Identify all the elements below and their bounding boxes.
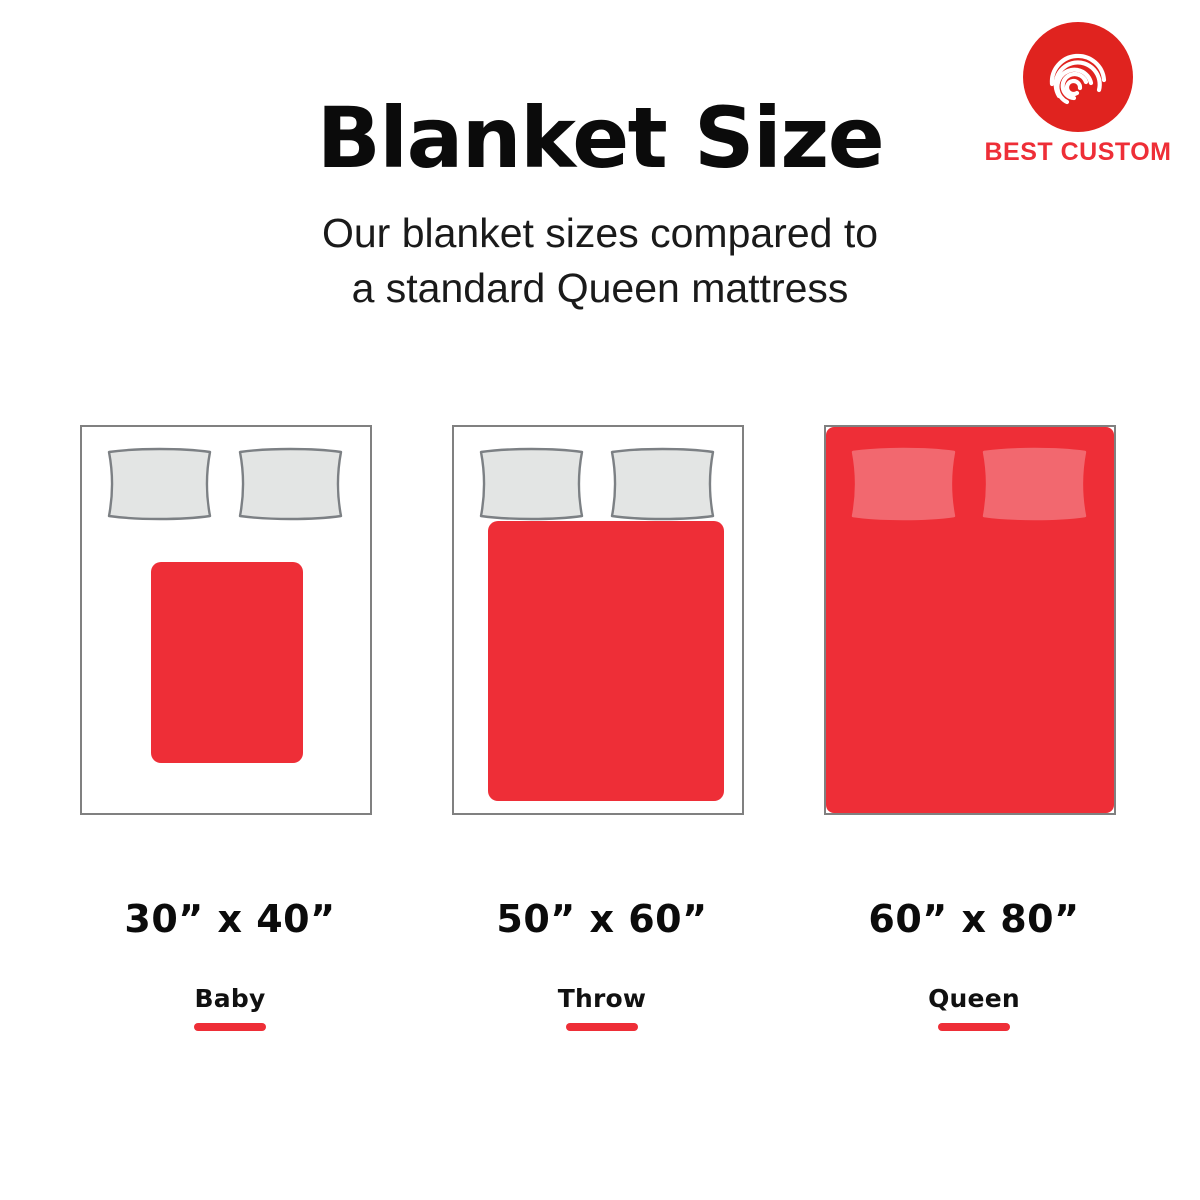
page-title: Blanket Size <box>0 96 1200 180</box>
pillow-left-icon <box>847 447 960 521</box>
dimension-text: 50” x 60” <box>416 900 788 938</box>
pillow-left-icon <box>103 447 216 521</box>
size-label-queen: 60” x 80” Queen <box>788 900 1160 1031</box>
header-block: Blanket Size Our blanket sizes compared … <box>0 96 1200 317</box>
pillow-right-icon <box>234 447 347 521</box>
size-name-text: Throw <box>416 986 788 1011</box>
bed-comparison-row <box>0 425 1200 817</box>
bed-diagram-queen <box>824 425 1116 815</box>
bed-diagram-throw <box>452 425 744 815</box>
dimension-text: 60” x 80” <box>788 900 1160 938</box>
blanket-throw <box>488 521 724 801</box>
blanket-baby <box>151 562 303 763</box>
size-labels-row: 30” x 40” Baby 50” x 60” Throw 60” x 80”… <box>0 900 1200 1050</box>
pillow-right-icon <box>978 447 1091 521</box>
accent-underline <box>566 1023 638 1031</box>
pillow-right-icon <box>606 447 719 521</box>
accent-underline <box>194 1023 266 1031</box>
bed-diagram-baby <box>80 425 372 815</box>
accent-underline <box>938 1023 1010 1031</box>
pillow-left-icon <box>475 447 588 521</box>
size-label-baby: 30” x 40” Baby <box>44 900 416 1031</box>
subtitle-line-2: a standard Queen mattress <box>0 261 1200 316</box>
size-name-text: Queen <box>788 986 1160 1011</box>
page-subtitle: Our blanket sizes compared to a standard… <box>0 206 1200 317</box>
size-label-throw: 50” x 60” Throw <box>416 900 788 1031</box>
size-name-text: Baby <box>44 986 416 1011</box>
dimension-text: 30” x 40” <box>44 900 416 938</box>
subtitle-line-1: Our blanket sizes compared to <box>0 206 1200 261</box>
